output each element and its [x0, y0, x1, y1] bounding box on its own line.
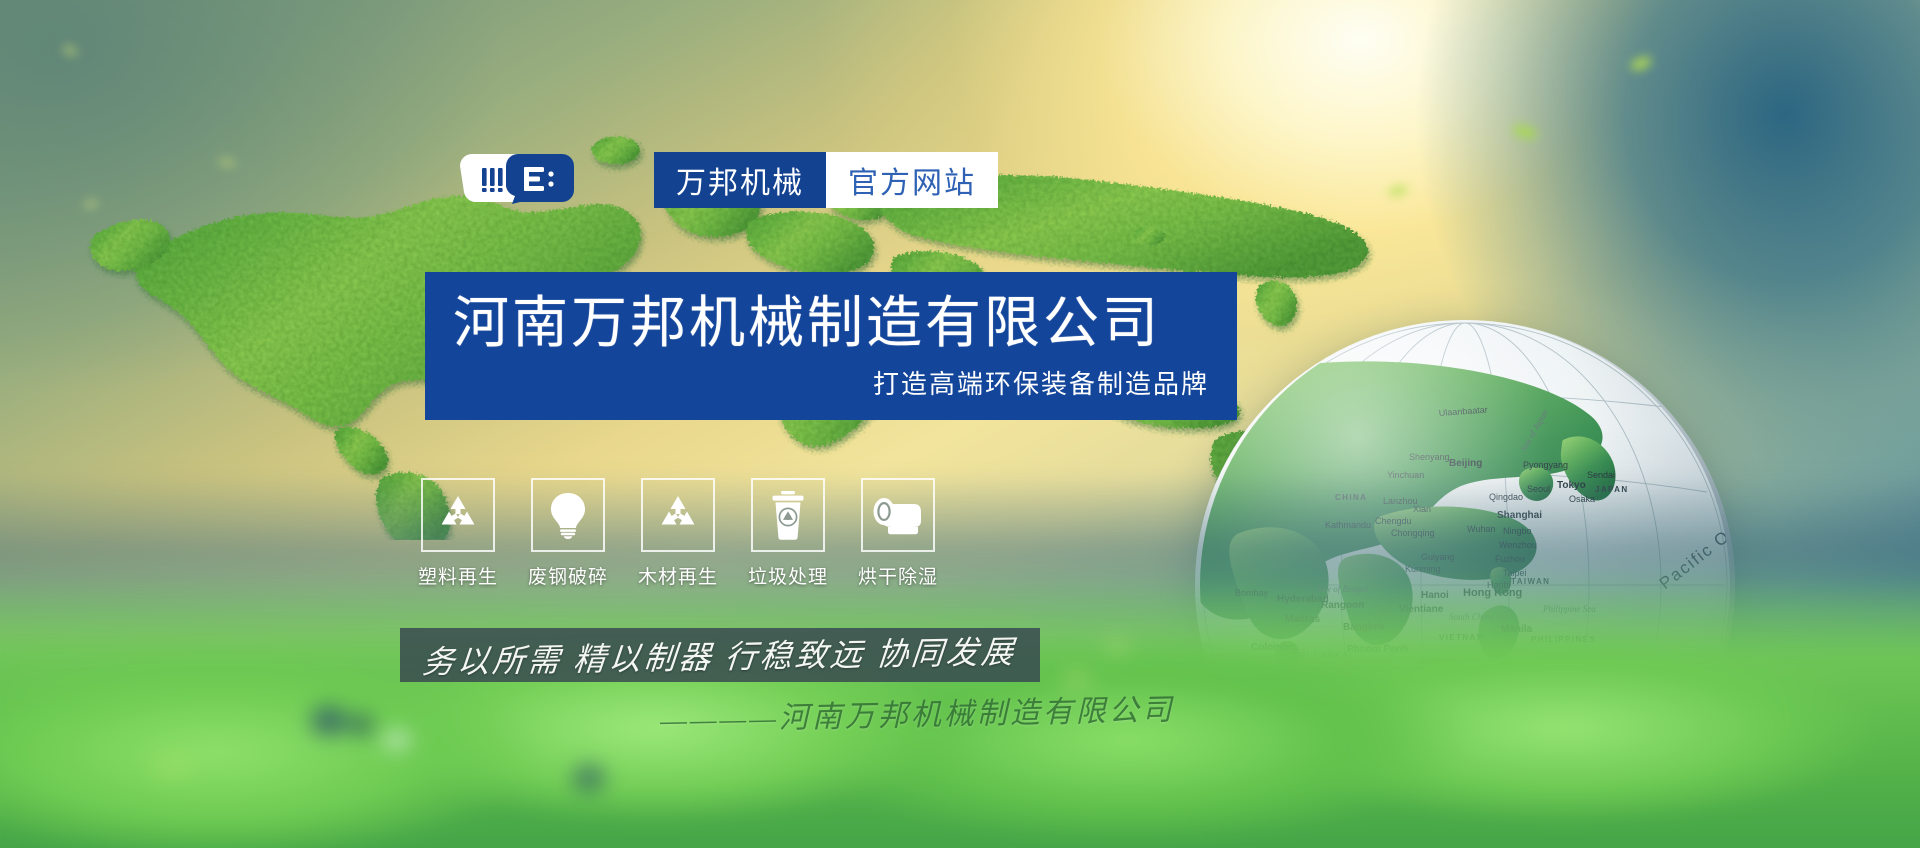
tab-wanbang-jixie[interactable]: 万邦机械 — [654, 152, 826, 208]
feature-scrap-steel-crushing[interactable]: 废钢破碎 — [528, 478, 608, 589]
feature-plastic-recycling[interactable]: 塑料再生 — [418, 478, 498, 589]
feature-label: 烘干除湿 — [858, 562, 938, 589]
recycle-icon — [435, 492, 481, 538]
page-title: 河南万邦机械制造有限公司 — [453, 293, 1209, 353]
lightbulb-icon — [547, 491, 589, 539]
recycle-icon — [655, 492, 701, 538]
hero-banner: Ulaanbaatar Beijing Shenyang Yinchuan La… — [0, 0, 1920, 848]
feature-icon-frame — [421, 478, 495, 552]
slogan-bar: 务以所需 精以制器 行稳致远 协同发展 — [400, 628, 1040, 682]
feature-icon-frame — [641, 478, 715, 552]
feature-icon-frame — [531, 478, 605, 552]
grass-foreground — [0, 518, 1920, 848]
page-subtitle: 打造高端环保装备制造品牌 — [453, 364, 1209, 401]
feature-wood-recycling[interactable]: 木材再生 — [638, 478, 718, 589]
company-title-banner: 河南万邦机械制造有限公司 打造高端环保装备制造品牌 — [425, 272, 1237, 420]
feature-icon-row: 塑料再生 废钢破碎 — [418, 478, 938, 589]
svg-text:Shenyang: Shenyang — [1409, 452, 1450, 462]
tab-guanfang-wangzhan[interactable]: 官方网站 — [826, 152, 998, 208]
feature-label: 塑料再生 — [418, 562, 498, 589]
tab-bar: 万邦机械 官方网站 — [654, 152, 998, 208]
dryer-machine-icon — [872, 495, 924, 535]
trash-bin-recycle-icon — [769, 490, 807, 540]
svg-text:Beijing: Beijing — [1449, 458, 1482, 469]
feature-label: 木材再生 — [638, 562, 718, 589]
feature-label: 废钢破碎 — [528, 562, 608, 589]
feature-icon-frame — [861, 478, 935, 552]
feature-waste-treatment[interactable]: 垃圾处理 — [748, 478, 828, 589]
logo-glyph-w — [482, 168, 503, 192]
wanbang-logo[interactable] — [458, 152, 576, 206]
slogan-text: 务以所需 精以制器 行稳致远 协同发展 — [421, 627, 1019, 683]
feature-label: 垃圾处理 — [748, 562, 828, 589]
feature-drying-dehumidifying[interactable]: 烘干除湿 — [858, 478, 938, 589]
svg-text:Pyongyang: Pyongyang — [1523, 460, 1568, 470]
feature-icon-frame — [751, 478, 825, 552]
